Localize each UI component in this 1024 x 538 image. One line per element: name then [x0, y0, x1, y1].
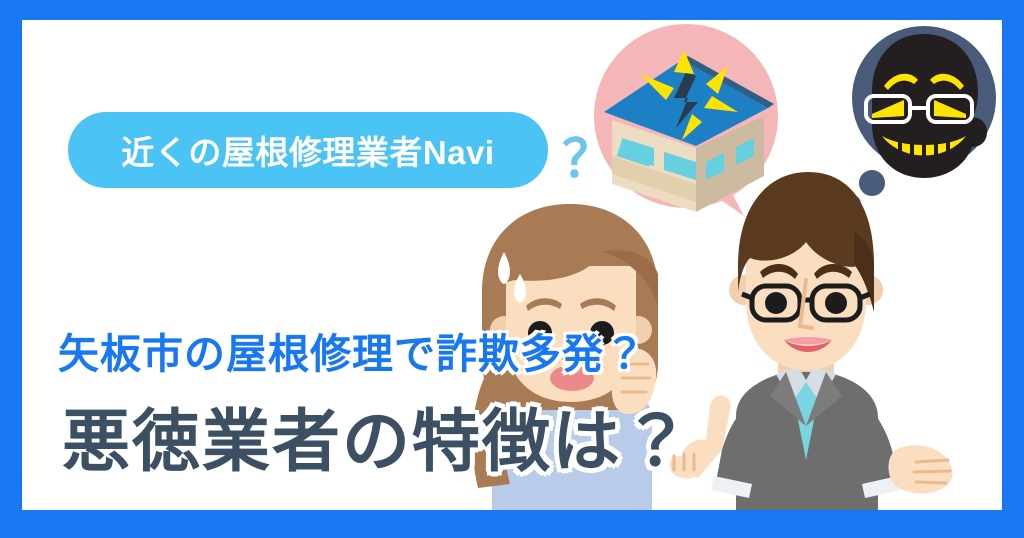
site-badge-label: 近くの屋根修理業者Navi — [121, 126, 494, 174]
banner-canvas: 近くの屋根修理業者Navi ？ 矢板市の屋根修理で詐欺多発？ 悪徳業者の特徴は？ — [22, 20, 1002, 510]
businessman-pointing — [658, 160, 968, 510]
banner-frame: 近くの屋根修理業者Navi ？ 矢板市の屋根修理で詐欺多発？ 悪徳業者の特徴は？ — [0, 0, 1024, 538]
page-title: 悪徳業者の特徴は？ — [62, 386, 692, 485]
site-badge[interactable]: 近くの屋根修理業者Navi — [68, 112, 548, 188]
subtitle-text: 矢板市の屋根修理で詐欺多発？ — [58, 320, 646, 380]
